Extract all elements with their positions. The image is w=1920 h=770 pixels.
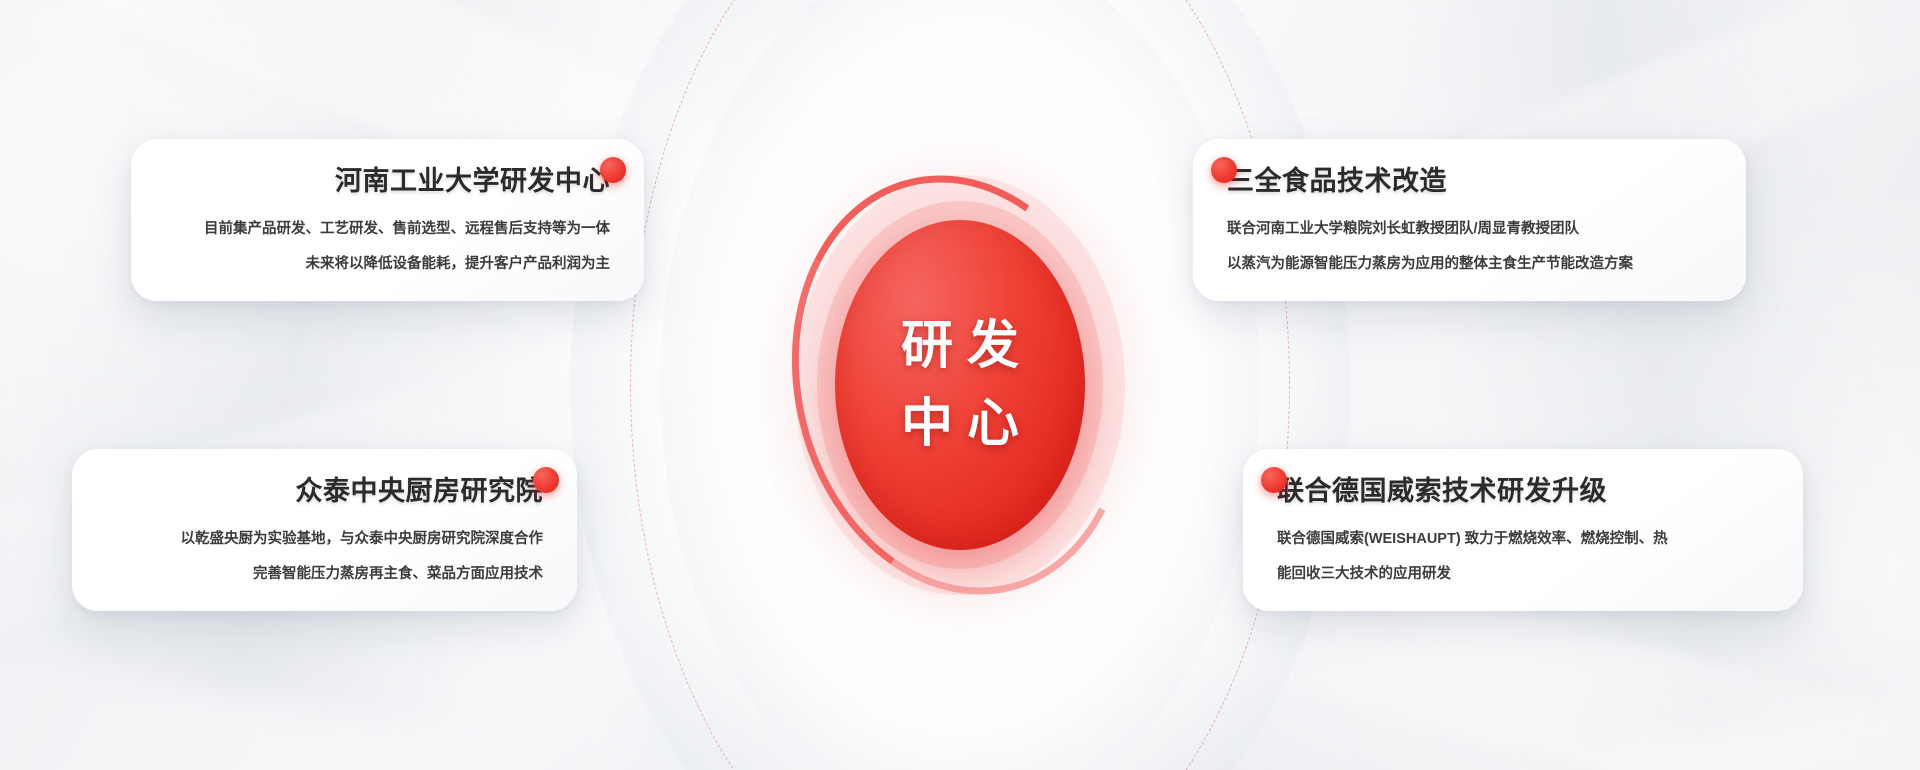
card-body-line: 以蒸汽为能源智能压力蒸房为应用的整体主食生产节能改造方案 [1227, 254, 1633, 275]
card-marker-dot [1211, 157, 1237, 183]
center-hub: 研发 中心 [745, 120, 1175, 650]
card-henan-university-rd-center[interactable]: 河南工业大学研发中心 目前集产品研发、工艺研发、售前选型、远程售后支持等为一体 … [131, 139, 644, 301]
card-body-line: 以乾盛央厨为实验基地，与众泰中央厨房研究院深度合作 [181, 529, 544, 550]
center-badge-core: 研发 中心 [835, 220, 1085, 550]
card-title: 三全食品技术改造 [1227, 167, 1447, 197]
card-marker-dot [533, 467, 559, 493]
center-title-line-2: 中心 [887, 398, 1033, 450]
card-body-line: 能回收三大技术的应用研发 [1277, 564, 1668, 585]
card-body: 目前集产品研发、工艺研发、售前选型、远程售后支持等为一体 未来将以降低设备能耗，… [204, 219, 610, 275]
card-title: 河南工业大学研发中心 [335, 167, 610, 197]
center-title-line-1: 研发 [887, 320, 1033, 372]
card-body-line: 目前集产品研发、工艺研发、售前选型、远程售后支持等为一体 [204, 219, 610, 240]
card-body-line: 未来将以降低设备能耗，提升客户产品利润为主 [204, 254, 610, 275]
card-body-line: 联合德国威索(WEISHAUPT) 致力于燃烧效率、燃烧控制、热 [1277, 529, 1668, 550]
card-sanquan-food-tech-upgrade[interactable]: 三全食品技术改造 联合河南工业大学粮院刘长虹教授团队/周显青教授团队 以蒸汽为能… [1193, 139, 1746, 301]
card-marker-dot [600, 157, 626, 183]
card-body: 以乾盛央厨为实验基地，与众泰中央厨房研究院深度合作 完善智能压力蒸房再主食、菜品… [181, 529, 544, 585]
card-weishaupt-joint-rd-upgrade[interactable]: 联合德国威索技术研发升级 联合德国威索(WEISHAUPT) 致力于燃烧效率、燃… [1243, 449, 1803, 611]
card-body-line: 完善智能压力蒸房再主食、菜品方面应用技术 [181, 564, 544, 585]
card-body: 联合河南工业大学粮院刘长虹教授团队/周显青教授团队 以蒸汽为能源智能压力蒸房为应… [1227, 219, 1633, 275]
card-title: 联合德国威索技术研发升级 [1277, 477, 1607, 507]
card-body-line: 联合河南工业大学粮院刘长虹教授团队/周显青教授团队 [1227, 219, 1633, 240]
card-title: 众泰中央厨房研究院 [296, 477, 544, 507]
card-marker-dot [1261, 467, 1287, 493]
card-body: 联合德国威索(WEISHAUPT) 致力于燃烧效率、燃烧控制、热 能回收三大技术… [1277, 529, 1668, 585]
card-zhongtai-central-kitchen-institute[interactable]: 众泰中央厨房研究院 以乾盛央厨为实验基地，与众泰中央厨房研究院深度合作 完善智能… [72, 449, 577, 611]
